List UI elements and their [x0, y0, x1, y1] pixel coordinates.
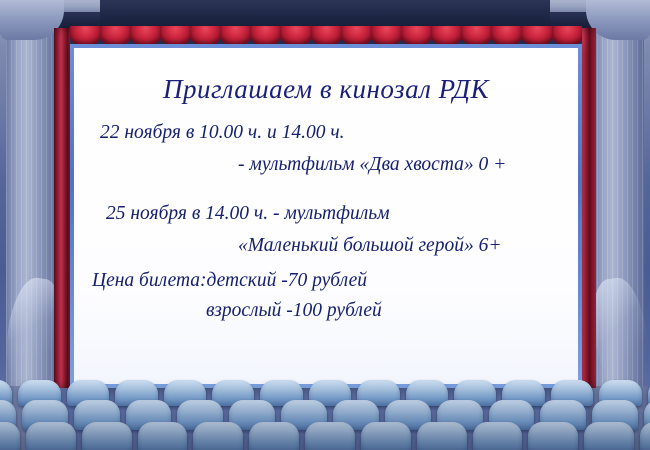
valance-swag [491, 26, 522, 46]
valance-swag [160, 26, 191, 46]
cinema-announcement-poster: Приглашаем в кинозал РДК 22 ноября в 10.… [0, 0, 650, 450]
valance-swag [311, 26, 342, 46]
valance-swag [100, 26, 131, 46]
seat [0, 422, 20, 450]
page-title: Приглашаем в кинозал РДК [88, 74, 564, 105]
seat [584, 422, 634, 450]
announcement-line: 25 ноября в 14.00 ч. - мультфильм [88, 204, 564, 224]
valance-swag [461, 26, 492, 46]
announcement-line: - мультфильм «Два хвоста» 0 + [88, 155, 564, 175]
valance-swag [401, 26, 432, 46]
valance-swag [130, 26, 161, 46]
announcement-line: 22 ноября в 10.00 ч. и 14.00 ч. [88, 123, 564, 143]
seat [193, 422, 243, 450]
seat [249, 422, 299, 450]
seat [305, 422, 355, 450]
valance-swag [371, 26, 402, 46]
valance-swag [521, 26, 552, 46]
auditorium-seats [0, 378, 650, 450]
seat [640, 422, 650, 450]
seat [473, 422, 523, 450]
seat [417, 422, 467, 450]
proscenium-header-bar [100, 0, 550, 28]
valance-swag [431, 26, 462, 46]
valance-swag [220, 26, 251, 46]
seat [138, 422, 188, 450]
announcement-line: «Маленький большой герой» 6+ [88, 236, 564, 256]
seat-row [0, 422, 650, 450]
valance-swag [341, 26, 372, 46]
valance-swag [250, 26, 281, 46]
seat [82, 422, 132, 450]
valance-swag [552, 26, 583, 46]
seat [26, 422, 76, 450]
announcement-text: 22 ноября в 10.00 ч. и 14.00 ч.- мультфи… [88, 123, 564, 320]
screen: Приглашаем в кинозал РДК 22 ноября в 10.… [74, 48, 578, 384]
announcement-line: Цена билета:детский -70 рублей [88, 271, 564, 291]
valance-swag [190, 26, 221, 46]
screen-frame: Приглашаем в кинозал РДК 22 ноября в 10.… [70, 44, 582, 388]
announcement-line: взрослый -100 рублей [88, 301, 564, 321]
seat [528, 422, 578, 450]
valance-swag [280, 26, 311, 46]
valance-swag [70, 26, 101, 46]
seat [361, 422, 411, 450]
